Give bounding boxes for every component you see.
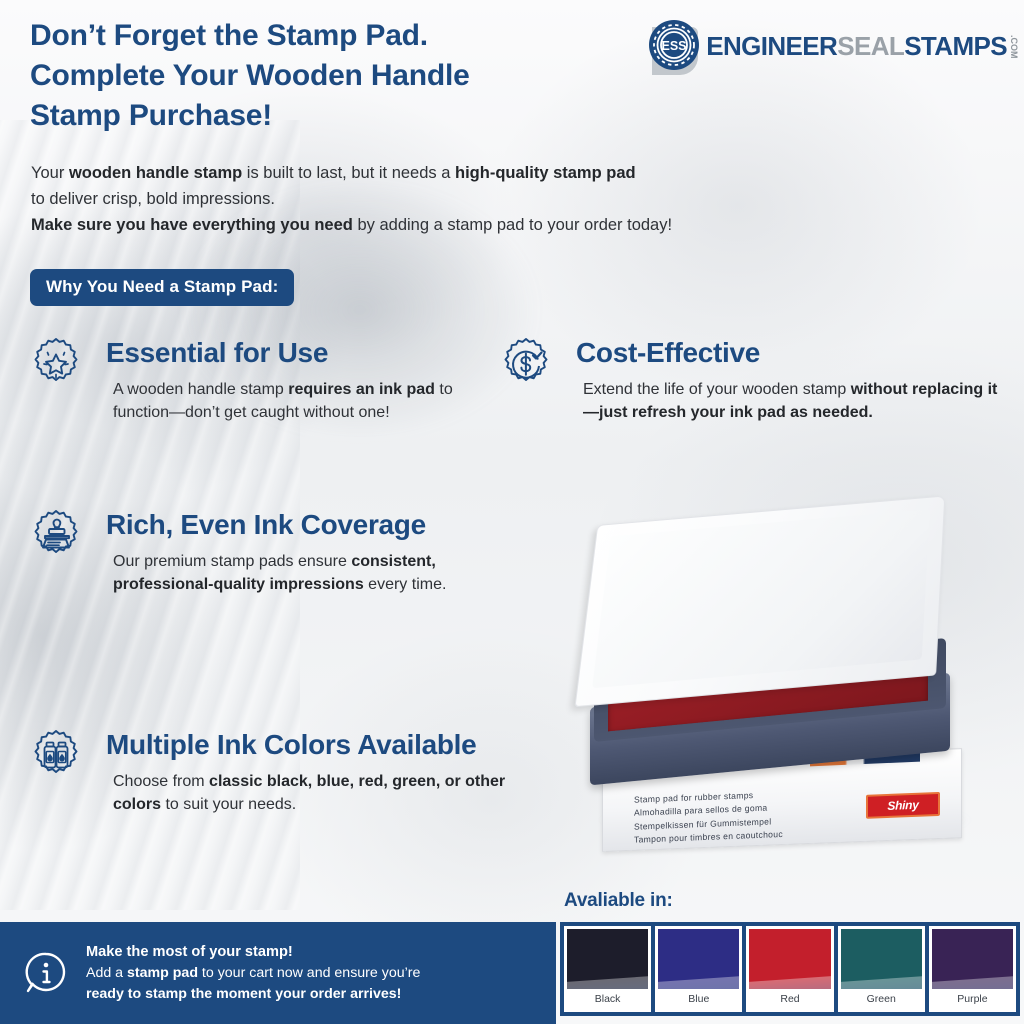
color-swatch-blue[interactable]: Blue [655,926,742,1012]
brand-logo[interactable]: ESS ENGINEER SEAL STAMPS .COM [646,17,1018,75]
intro-text-b: wooden handle stamp [69,164,242,182]
headline-line-2: Complete Your Wooden Handle [30,56,640,96]
feature-ink-colors: Multiple Ink Colors Available Choose fro… [28,728,538,817]
badge-star-icon [28,336,84,392]
swatch-label: Black [567,989,648,1009]
feature-title: Essential for Use [106,336,498,368]
intro-text-a: Your [31,164,69,182]
intro-line-1: Your wooden handle stamp is built to las… [31,160,911,186]
feature-body: Choose from classic black, blue, red, gr… [113,771,538,816]
feature-body-c: every time. [364,576,447,593]
swatch-label: Purple [932,989,1013,1009]
color-swatch-red[interactable]: Red [746,926,833,1012]
logo-tld: .COM [1009,35,1018,59]
section-heading-badge: Why You Need a Stamp Pad: [30,269,294,306]
ess-gear-icon: ESS [646,17,704,75]
feature-body-a: A wooden handle stamp [113,381,288,398]
logo-word-seal: SEAL [837,33,904,59]
feature-body: A wooden handle stamp requires an ink pa… [113,379,498,424]
intro-text-e: Make sure you have everything you need [31,216,353,234]
feature-title: Multiple Ink Colors Available [106,728,538,760]
swatch-color-chip [841,929,922,989]
brand-wordmark: ENGINEER SEAL STAMPS .COM [706,33,1018,59]
info-bubble-icon [22,949,70,997]
feature-title: Cost-Effective [576,336,998,368]
footer-text-d: ready to stamp the moment your order arr… [86,986,401,1002]
intro-text-c: is built to last, but it needs a [242,164,455,182]
feature-cost-effective: Cost-Effective Extend the life of your w… [498,336,998,425]
headline-line-3: Stamp Purchase! [30,96,640,136]
swatch-label: Blue [658,989,739,1009]
swatch-color-chip [932,929,1013,989]
feature-body-a: Choose from [113,773,209,790]
footer-text-c: to your cart now and ensure you’re [198,965,420,981]
badge-dollar-check-icon [498,336,554,392]
swatch-label: Red [749,989,830,1009]
color-swatch-green[interactable]: Green [838,926,925,1012]
intro-text-f: by adding a stamp pad to your order toda… [353,216,672,234]
swatch-color-chip [658,929,739,989]
stamp-pad-lid [574,495,945,707]
intro-line-3: Make sure you have everything you need b… [31,212,911,238]
footer-text-a: Add a [86,965,127,981]
footer-line-3: ready to stamp the moment your order arr… [86,984,420,1005]
footer-line-1: Make the most of your stamp! [86,942,420,963]
feature-body: Our premium stamp pads ensure consistent… [113,551,468,596]
product-photo: Stamp pad for rubber stamps Almohadilla … [560,500,1010,890]
intro-text-d: high-quality stamp pad [455,164,636,182]
feature-title: Rich, Even Ink Coverage [106,508,468,540]
intro-line-2: to deliver crisp, bold impressions. [31,186,911,212]
feature-body-a: Extend the life of your wooden stamp [583,381,851,398]
shiny-brand-badge: Shiny [866,792,940,819]
logo-mark-text: ESS [662,39,687,53]
feature-body-a: Our premium stamp pads ensure [113,553,351,570]
color-swatch-purple[interactable]: Purple [929,926,1016,1012]
feature-ink-coverage: Rich, Even Ink Coverage Our premium stam… [28,508,468,597]
intro-paragraph: Your wooden handle stamp is built to las… [31,160,911,238]
infographic-canvas: Don’t Forget the Stamp Pad. Complete You… [0,0,1024,1024]
logo-word-stamps: STAMPS [904,33,1007,59]
footer-cta-bar: Make the most of your stamp! Add a stamp… [0,922,556,1024]
badge-ink-bottles-icon [28,728,84,784]
feature-body-c: to suit your needs. [161,796,296,813]
footer-text-b: stamp pad [127,965,198,981]
badge-stamp-icon [28,508,84,564]
logo-word-engineer: ENGINEER [706,33,837,59]
stamp-pad-lid-face [592,509,930,688]
page-title: Don’t Forget the Stamp Pad. Complete You… [30,16,640,136]
swatch-label: Green [841,989,922,1009]
footer-line-2: Add a stamp pad to your cart now and ens… [86,963,420,984]
feature-essential-for-use: Essential for Use A wooden handle stamp … [28,336,498,425]
footer-message: Make the most of your stamp! Add a stamp… [86,942,420,1005]
availability-title: Avaliable in: [564,890,673,912]
color-swatch-black[interactable]: Black [564,926,651,1012]
feature-body: Extend the life of your wooden stamp wit… [583,379,998,424]
headline-line-1: Don’t Forget the Stamp Pad. [30,16,640,56]
swatch-color-chip [567,929,648,989]
swatch-color-chip [749,929,830,989]
feature-body-b: requires an ink pad [288,381,435,398]
color-swatch-rail: Black Blue Red Green Purple [560,922,1020,1016]
